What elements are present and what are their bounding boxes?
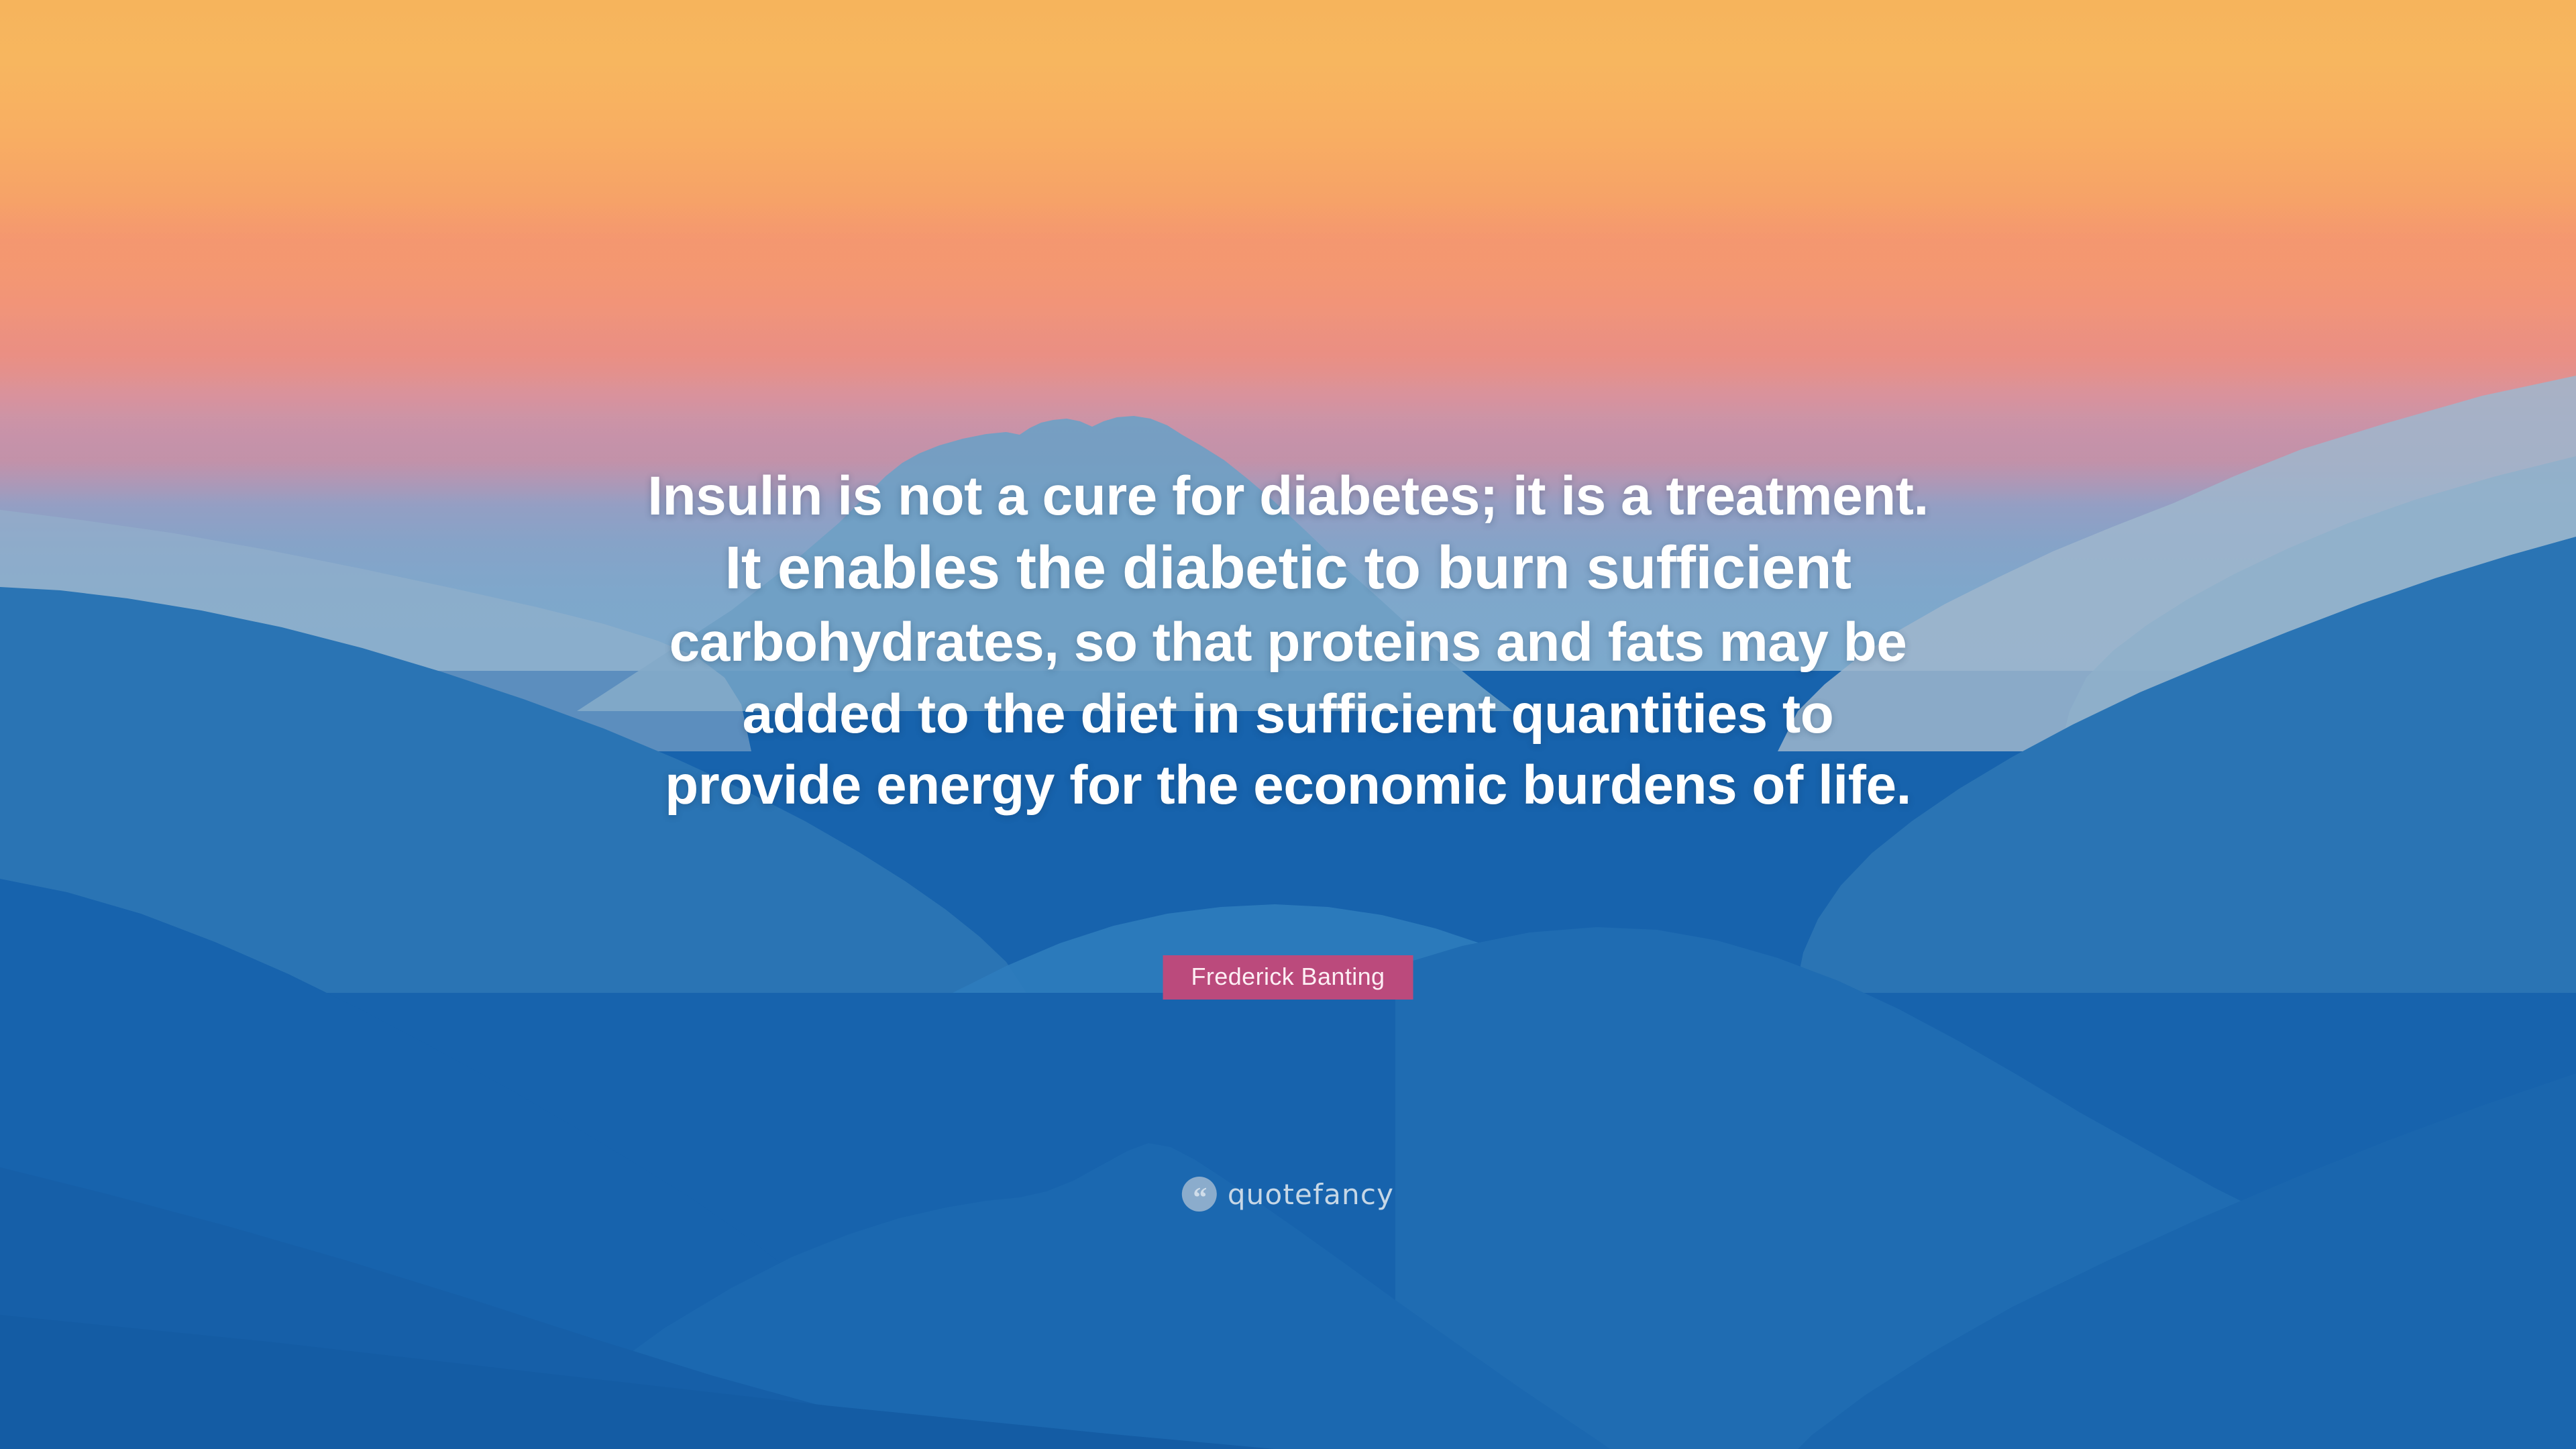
quote-line-2: It enables the diabetic to burn sufficie…: [510, 530, 2066, 607]
quote-wallpaper: Insulin is not a cure for diabetes; it i…: [0, 0, 2576, 1449]
quote-line-1: Insulin is not a cure for diabetes; it i…: [510, 463, 2066, 530]
foreground-mountains: [0, 792, 2576, 1449]
quote-text-block: Insulin is not a cure for diabetes; it i…: [0, 463, 2576, 822]
quote-line-3: carbohydrates, so that proteins and fats…: [510, 607, 2066, 679]
quotefancy-watermark[interactable]: “ quotefancy: [1182, 1177, 1394, 1212]
watermark-brand-label: quotefancy: [1228, 1178, 1394, 1211]
quotation-mark-icon: “: [1182, 1177, 1217, 1212]
quote-line-5: provide energy for the economic burdens …: [510, 750, 2066, 822]
quote-line-4: added to the diet in sufficient quantiti…: [510, 679, 2066, 751]
author-attribution-badge[interactable]: Frederick Banting: [1163, 955, 1413, 1000]
